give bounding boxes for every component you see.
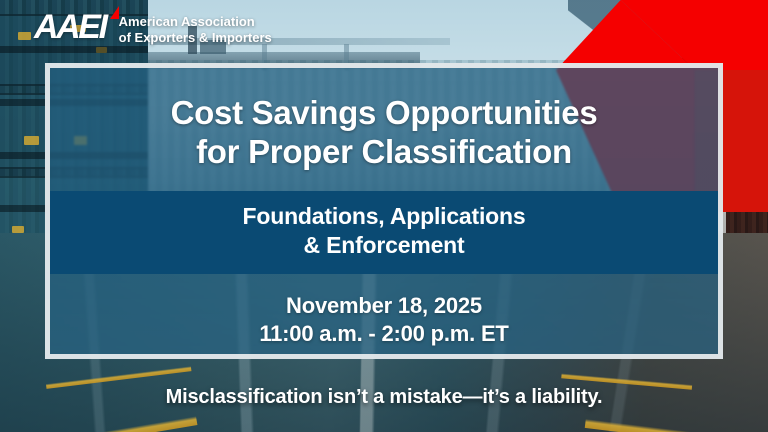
event-title-line-1: Cost Savings Opportunities — [50, 94, 718, 133]
lane-line — [584, 419, 768, 432]
event-title: Cost Savings Opportunities for Proper Cl… — [50, 94, 718, 171]
red-arrow-icon — [110, 6, 119, 19]
org-name-line-2: of Exporters & Importers — [119, 30, 272, 46]
event-date: November 18, 2025 — [50, 292, 718, 320]
event-subtitle-band: Foundations, Applications & Enforcement — [50, 191, 718, 274]
lane-line — [0, 416, 198, 432]
webinar-promo-poster: AAEI American Association of Exporters &… — [0, 0, 768, 432]
aaei-logo-mark: AAEI — [34, 10, 110, 44]
aaei-logo[interactable]: AAEI American Association of Exporters &… — [34, 10, 272, 47]
container-placard — [18, 32, 31, 40]
org-name-line-1: American Association — [119, 14, 272, 30]
aaei-logo-text: AAEI — [34, 8, 106, 46]
container-placard — [12, 226, 24, 233]
event-title-line-2: for Proper Classification — [50, 133, 718, 172]
event-info-panel: Cost Savings Opportunities for Proper Cl… — [45, 63, 723, 359]
event-subtitle-line-1: Foundations, Applications — [50, 202, 718, 231]
org-name: American Association of Exporters & Impo… — [119, 14, 272, 47]
container-placard — [24, 136, 39, 145]
event-time: 11:00 a.m. - 2:00 p.m. ET — [50, 320, 718, 348]
event-subtitle-line-2: & Enforcement — [50, 231, 718, 260]
event-tagline: Misclassification isn’t a mistake—it’s a… — [0, 386, 768, 409]
container-placard — [96, 47, 107, 53]
event-schedule: November 18, 2025 11:00 a.m. - 2:00 p.m.… — [50, 292, 718, 348]
